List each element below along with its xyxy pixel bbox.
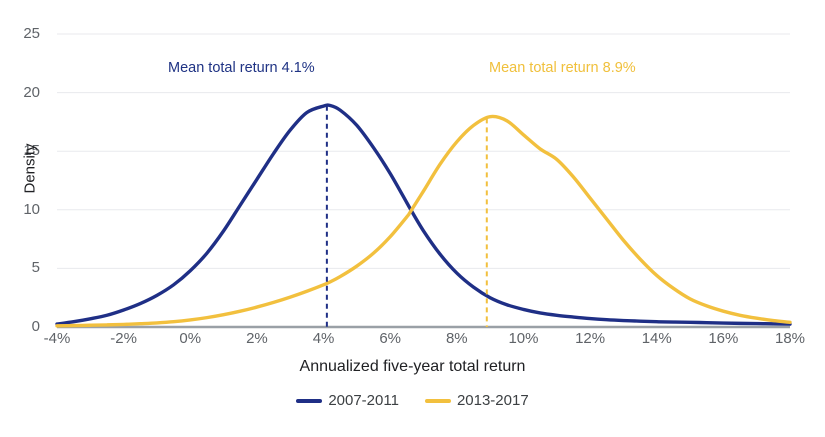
x-tick-label: 6% (360, 331, 420, 346)
density-curve-2013-2017 (57, 116, 790, 325)
legend-label: 2007-2011 (328, 392, 399, 409)
x-tick-label: 14% (627, 331, 687, 346)
x-tick-label: 8% (427, 331, 487, 346)
x-tick-label: -4% (27, 331, 87, 346)
legend-swatch-icon (296, 399, 322, 403)
x-axis-title: Annualized five-year total return (0, 358, 825, 376)
gridlines (57, 34, 790, 327)
x-tick-label: 10% (493, 331, 553, 346)
x-tick-label: 16% (693, 331, 753, 346)
legend-label: 2013-2017 (457, 392, 529, 409)
x-tick-label: -2% (94, 331, 154, 346)
x-tick-label: 18% (760, 331, 820, 346)
y-tick-label: 5 (0, 260, 40, 275)
mean-annotation-2007-2011: Mean total return 4.1% (168, 60, 315, 76)
x-tick-label: 0% (160, 331, 220, 346)
y-tick-label: 20 (0, 85, 40, 100)
chart-legend: 2007-2011 2013-2017 (0, 392, 825, 409)
density-chart: 0510152025 -4%-2%0%2%4%6%8%10%12%14%16%1… (0, 0, 825, 437)
density-curves (57, 105, 790, 326)
legend-item-2007-2011[interactable]: 2007-2011 (296, 392, 399, 409)
x-tick-label: 4% (294, 331, 354, 346)
mean-annotation-2013-2017: Mean total return 8.9% (489, 60, 636, 76)
y-tick-label: 25 (0, 26, 40, 41)
x-tick-label: 12% (560, 331, 620, 346)
legend-swatch-icon (425, 399, 451, 403)
x-tick-label: 2% (227, 331, 287, 346)
y-axis-title: Density (22, 119, 39, 219)
legend-item-2013-2017[interactable]: 2013-2017 (425, 392, 529, 409)
